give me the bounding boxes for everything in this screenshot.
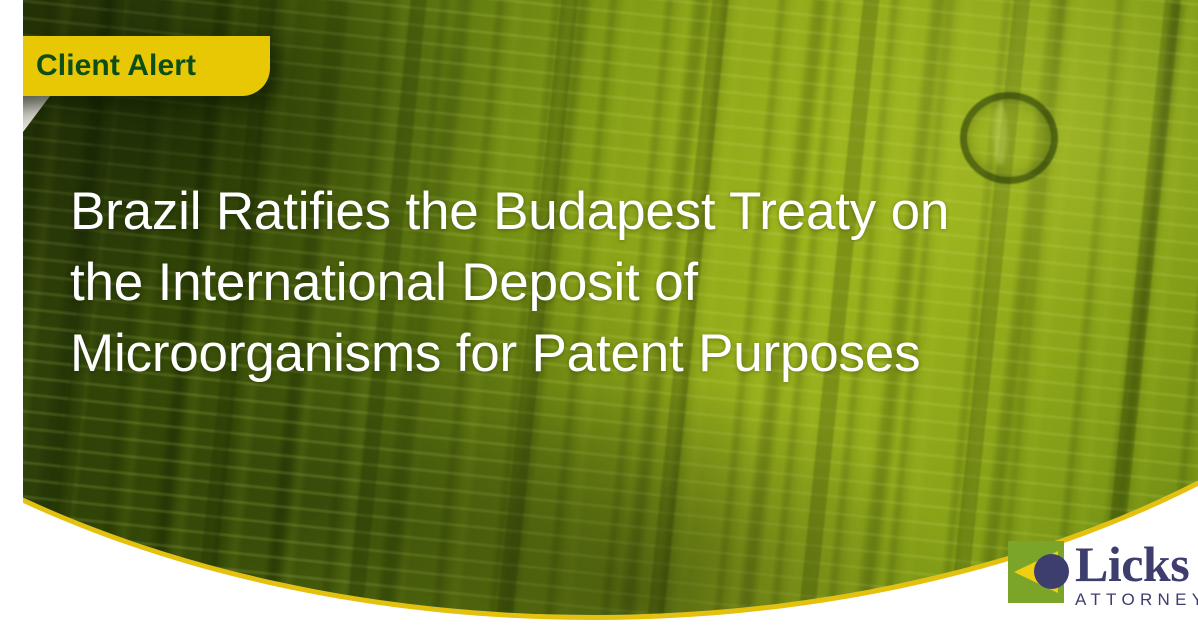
- flag-circle-shape: [1034, 554, 1069, 589]
- client-alert-label: Client Alert: [36, 49, 196, 83]
- left-margin-strip: [0, 0, 23, 627]
- headline-line-2: the International Deposit of: [70, 247, 1000, 318]
- licks-attorneys-logo[interactable]: Licks ATTORNEYS: [1008, 541, 1198, 609]
- headline-line-1: Brazil Ratifies the Budapest Treaty on: [70, 176, 1000, 247]
- logo-wordmark: Licks: [1075, 541, 1198, 587]
- page-title: Brazil Ratifies the Budapest Treaty on t…: [70, 176, 1000, 389]
- brazil-flag-icon: [1008, 541, 1064, 603]
- client-alert-banner: Client Alert Brazil Ratifies the Budapes…: [0, 0, 1198, 627]
- headline-line-3: Microorganisms for Patent Purposes: [70, 318, 1000, 389]
- client-alert-ribbon: Client Alert: [0, 36, 270, 96]
- bubble-circle-icon: [960, 92, 1058, 184]
- logo-wordmark-block: Licks ATTORNEYS: [1075, 541, 1198, 609]
- logo-tagline: ATTORNEYS: [1075, 590, 1198, 609]
